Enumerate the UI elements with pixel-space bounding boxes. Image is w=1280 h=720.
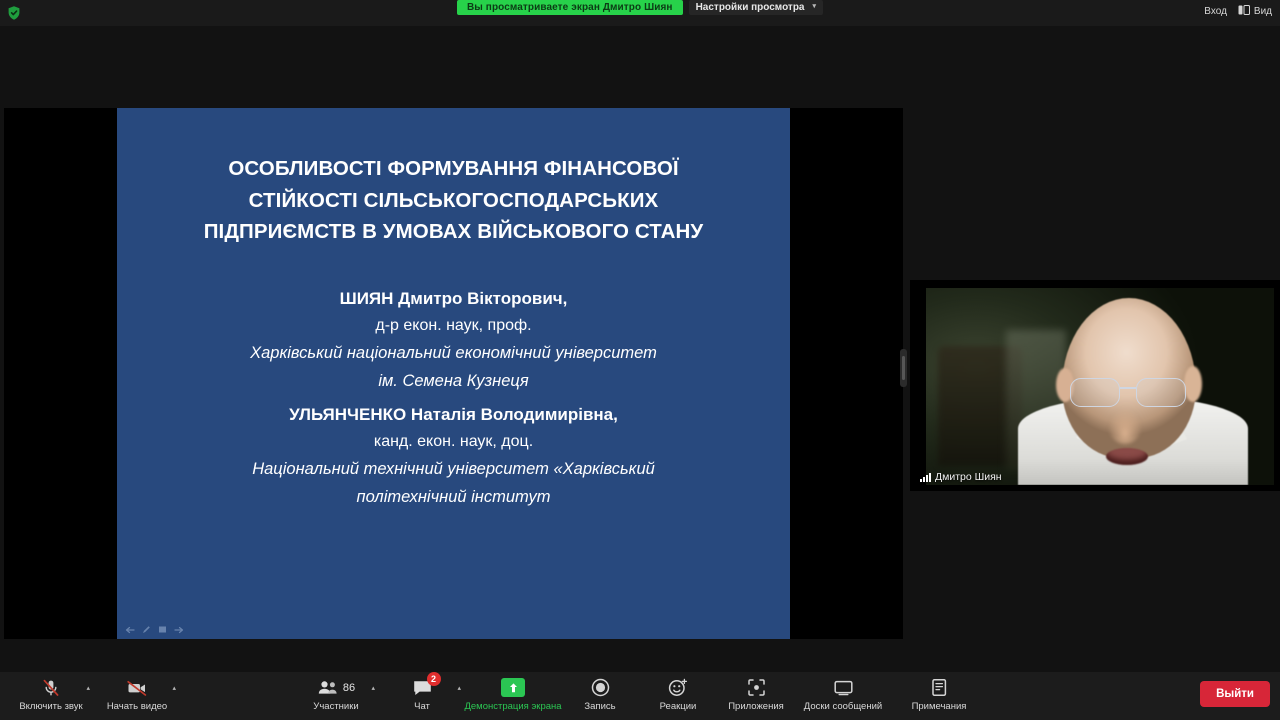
participant-name: Дмитро Шиян — [935, 471, 1002, 483]
meeting-stage: ОСОБЛИВОСТІ ФОРМУВАННЯ ФІНАНСОВОЇ СТІЙКО… — [0, 26, 1280, 672]
presentation-slide: ОСОБЛИВОСТІ ФОРМУВАННЯ ФІНАНСОВОЇ СТІЙКО… — [117, 108, 790, 639]
slide-title-line-3: ПІДПРИЄМСТВ В УМОВАХ ВІЙСЬКОВОГО СТАНУ — [131, 216, 776, 248]
participant-video-feed — [910, 280, 1280, 491]
meeting-toolbar: Включить звук ▴ Начать видео ▴ — [0, 672, 1280, 720]
author-2-org-2: політехнічний інститут — [129, 483, 778, 511]
slide-navigation-bar[interactable] — [125, 625, 184, 634]
chat-unread-badge: 2 — [427, 672, 441, 686]
apps-label: Приложения — [728, 701, 784, 712]
author-1-org-1: Харківський національний економічний уні… — [129, 339, 778, 367]
chevron-down-icon: ▾ — [813, 0, 817, 14]
whiteboard-icon — [833, 677, 854, 698]
slide-title: ОСОБЛИВОСТІ ФОРМУВАННЯ ФІНАНСОВОЇ СТІЙКО… — [117, 153, 790, 248]
notes-button[interactable]: Примечания — [891, 672, 987, 720]
whiteboards-label: Доски сообщений — [804, 701, 882, 712]
screen-share-banner: Вы просматриваете экран Дмитро Шиян — [457, 0, 683, 15]
reactions-button[interactable]: Реакции — [639, 672, 717, 720]
smiley-reaction-icon — [668, 677, 688, 698]
camera-muted-icon — [126, 677, 148, 698]
next-slide-icon[interactable] — [174, 626, 184, 634]
author-1-degree: д-р екон. наук, проф. — [129, 312, 778, 339]
pen-annotate-icon[interactable] — [142, 625, 151, 634]
leave-meeting-button[interactable]: Выйти — [1200, 681, 1270, 707]
zoom-meeting-window: Вы просматриваете экран Дмитро Шиян Наст… — [0, 0, 1280, 720]
microphone-muted-icon — [41, 677, 61, 698]
chat-label: Чат — [414, 701, 430, 712]
video-tile-nameplate: Дмитро Шиян — [920, 471, 1002, 483]
record-label: Запись — [584, 701, 615, 712]
view-settings-button[interactable]: Настройки просмотра ▾ — [689, 0, 823, 15]
share-screen-icon — [501, 677, 525, 698]
chat-options-caret[interactable]: ▴ — [457, 684, 461, 692]
video-label: Начать видео — [107, 701, 167, 712]
participants-label: Участники — [313, 701, 358, 712]
toolbar-left-group: Включить звук ▴ Начать видео ▴ — [8, 672, 180, 720]
slide-menu-icon[interactable] — [158, 625, 167, 634]
toolbar-center-group: 86 Участники ▴ 2 Чат ▴ — [293, 672, 987, 720]
record-button[interactable]: Запись — [561, 672, 639, 720]
audio-options-caret[interactable]: ▴ — [86, 684, 90, 692]
video-options-caret[interactable]: ▴ — [172, 684, 176, 692]
start-video-button[interactable]: Начать видео ▴ — [94, 672, 180, 720]
author-1-name: ШИЯН Дмитро Вікторович, — [129, 285, 778, 312]
participants-count: 86 — [343, 682, 355, 694]
participants-options-caret[interactable]: ▴ — [371, 684, 375, 692]
view-layout-button[interactable]: Вид — [1238, 5, 1272, 18]
prev-slide-icon[interactable] — [125, 626, 135, 634]
author-2-name: УЛЬЯНЧЕНКО Наталія Володимирівна, — [129, 401, 778, 428]
slide-title-line-1: ОСОБЛИВОСТІ ФОРМУВАННЯ ФІНАНСОВОЇ — [131, 153, 776, 185]
participants-button[interactable]: 86 Участники ▴ — [293, 672, 379, 720]
signal-bars-icon — [920, 473, 931, 482]
view-label: Вид — [1254, 6, 1272, 17]
record-icon — [591, 677, 610, 698]
whiteboards-button[interactable]: Доски сообщений — [795, 672, 891, 720]
share-screen-button[interactable]: Демонстрация экрана — [465, 672, 561, 720]
author-1-org-2: ім. Семена Кузнеця — [129, 367, 778, 395]
author-2-org-1: Національний технічний університет «Харк… — [129, 455, 778, 483]
chat-button[interactable]: 2 Чат ▴ — [379, 672, 465, 720]
share-screen-label: Демонстрация экрана — [464, 701, 561, 712]
panel-resize-handle[interactable] — [900, 349, 907, 387]
notes-label: Примечания — [912, 701, 967, 712]
top-bar: Вы просматриваете экран Дмитро Шиян Наст… — [0, 0, 1280, 26]
toolbar-right-group: Выйти — [1200, 681, 1270, 707]
view-settings-label: Настройки просмотра — [696, 0, 805, 15]
reactions-label: Реакции — [660, 701, 697, 712]
login-button[interactable]: Вход — [1204, 6, 1227, 17]
shield-check-icon[interactable] — [6, 5, 22, 21]
apps-button[interactable]: Приложения — [717, 672, 795, 720]
shared-screen-area[interactable]: ОСОБЛИВОСТІ ФОРМУВАННЯ ФІНАНСОВОЇ СТІЙКО… — [4, 108, 903, 639]
notes-icon — [930, 677, 948, 698]
participants-icon: 86 — [317, 677, 355, 698]
slide-authors: ШИЯН Дмитро Вікторович, д-р екон. наук, … — [117, 285, 790, 511]
top-right-controls: Вход Вид — [1204, 0, 1272, 22]
slide-title-line-2: СТІЙКОСТІ СІЛЬСЬКОГОСПОДАРСЬКИХ — [131, 185, 776, 217]
video-thumbnail-tile[interactable]: Дмитро Шиян — [910, 280, 1280, 491]
audio-label: Включить звук — [19, 701, 82, 712]
layout-view-icon — [1238, 5, 1250, 18]
author-2-degree: канд. екон. наук, доц. — [129, 428, 778, 455]
apps-icon — [747, 677, 766, 698]
chat-bubble-icon: 2 — [412, 677, 433, 698]
login-label: Вход — [1204, 6, 1227, 17]
unmute-audio-button[interactable]: Включить звук ▴ — [8, 672, 94, 720]
